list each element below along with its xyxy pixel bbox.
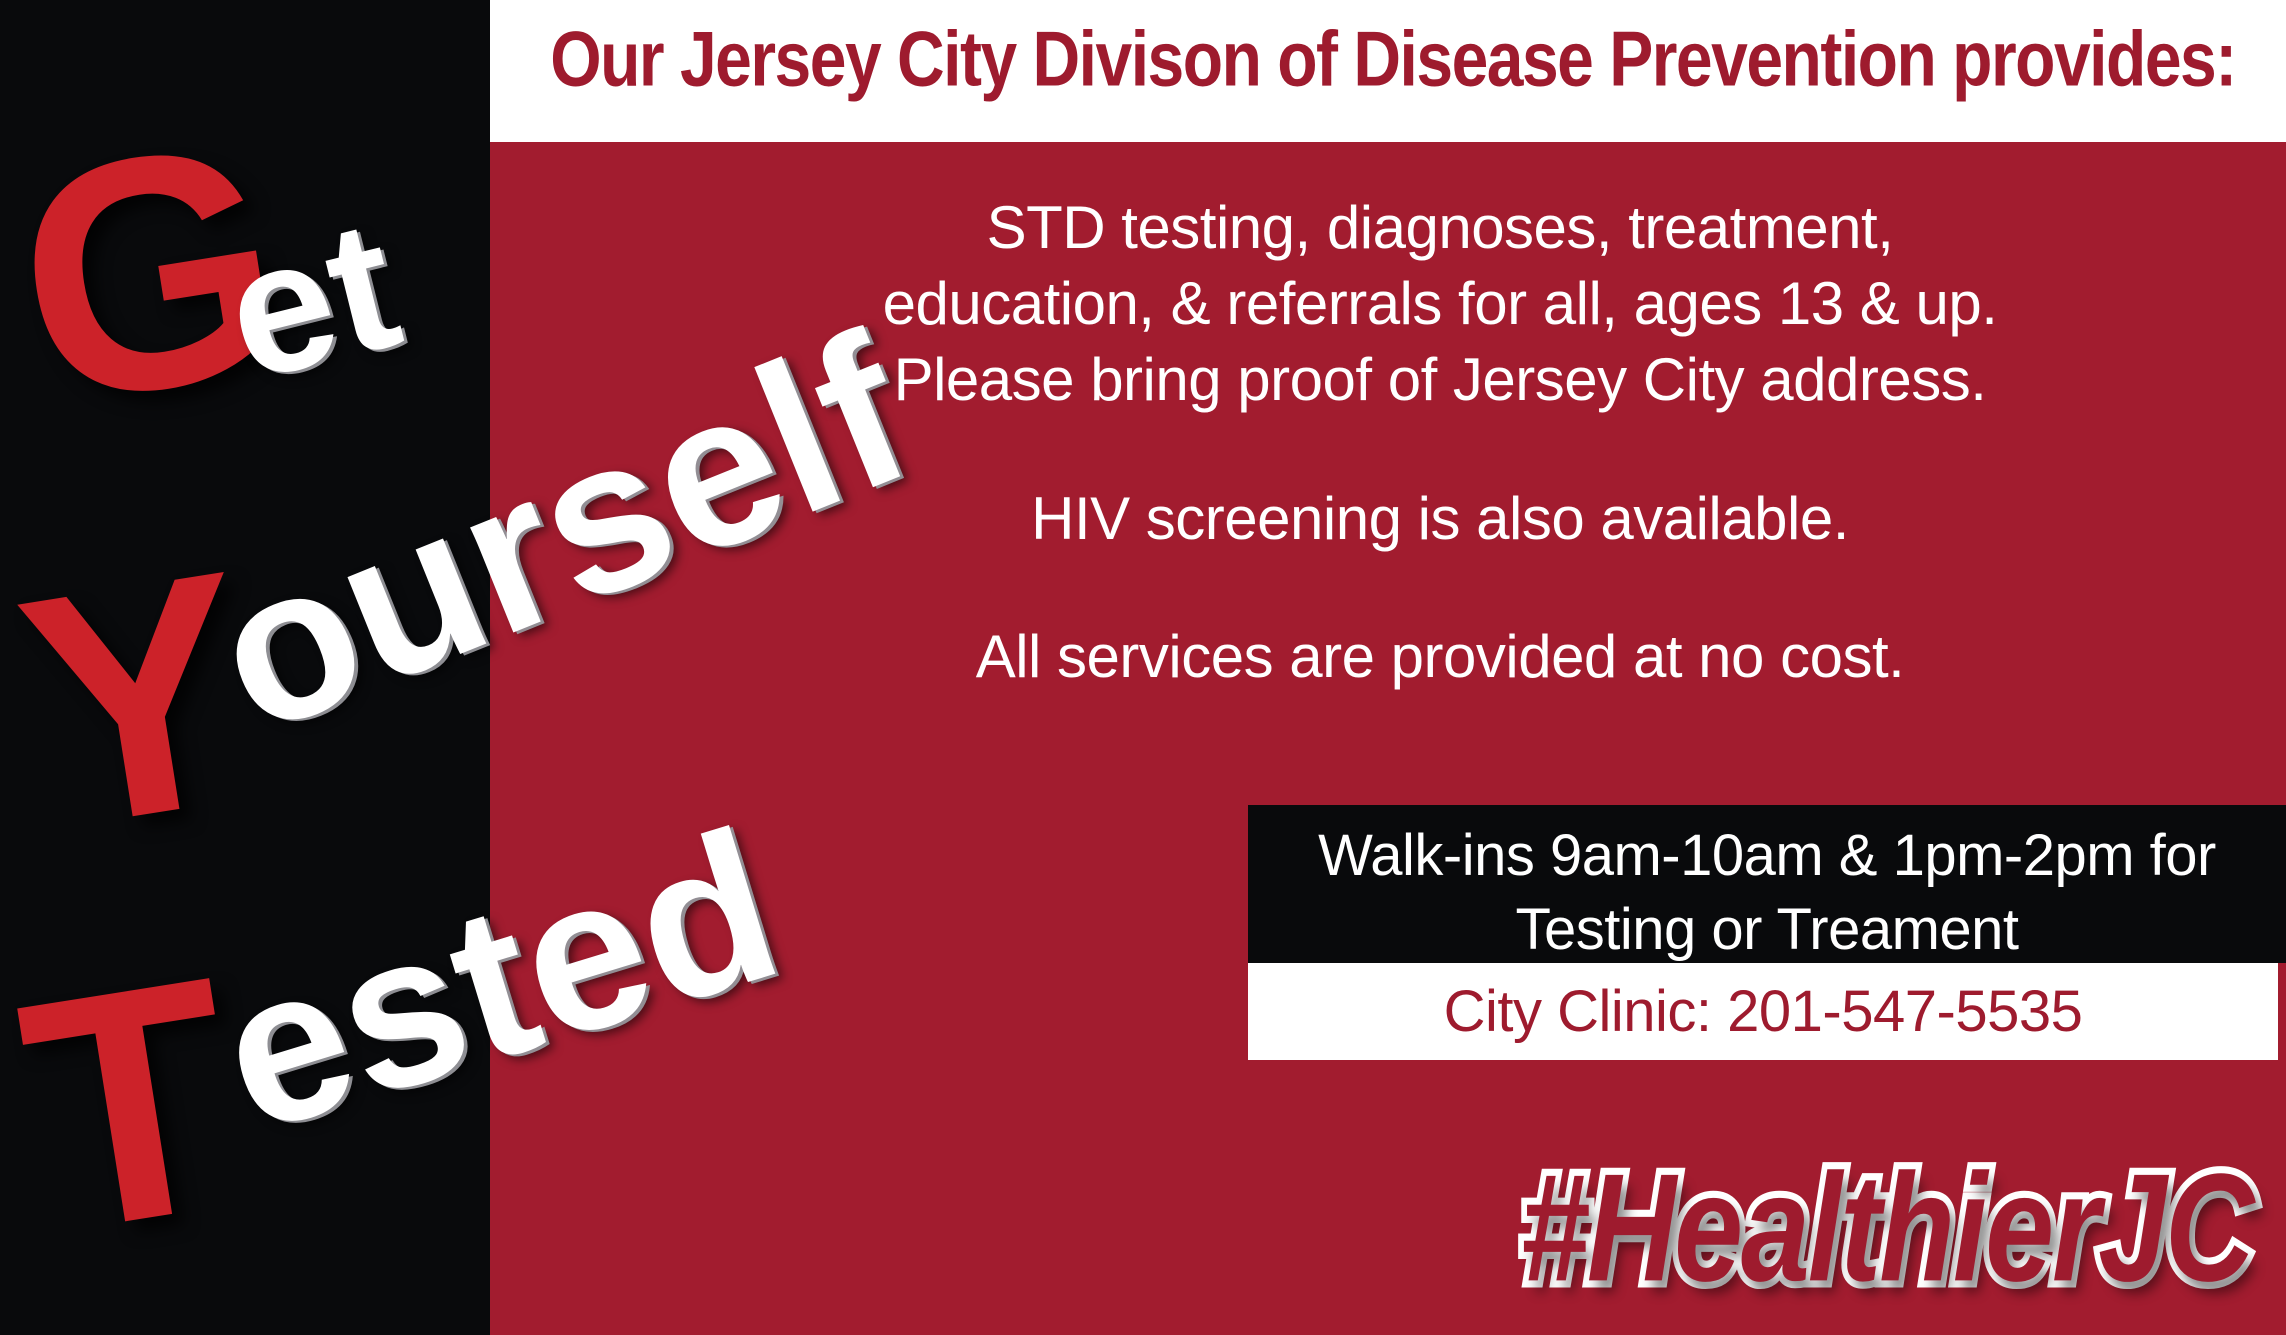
paragraph-spacer-1: [620, 419, 2260, 481]
no-cost-line: All services are provided at no cost.: [620, 619, 2260, 695]
header-title: Our Jersey City Divison of Disease Preve…: [500, 18, 2286, 100]
services-line-2: education, & referrals for all, ages 13 …: [620, 266, 2260, 342]
walk-in-hours-line-2: Testing or Treament: [1248, 893, 2286, 967]
hiv-screening-line: HIV screening is also available.: [620, 481, 2260, 557]
walk-in-hours-box: Walk-ins 9am-10am & 1pm-2pm for Testing …: [1248, 805, 2286, 963]
paragraph-spacer-2: [620, 557, 2260, 619]
services-line-3: Please bring proof of Jersey City addres…: [620, 342, 2260, 418]
clinic-phone-box[interactable]: City Clinic: 201-547-5535: [1248, 963, 2278, 1060]
poster-canvas: Our Jersey City Divison of Disease Preve…: [0, 0, 2286, 1335]
campaign-hashtag: #HealthierJC: [1520, 1140, 2252, 1317]
services-body-copy: STD testing, diagnoses, treatment, educa…: [620, 190, 2260, 695]
services-line-1: STD testing, diagnoses, treatment,: [620, 190, 2260, 266]
walk-in-hours-line-1: Walk-ins 9am-10am & 1pm-2pm for: [1248, 819, 2286, 893]
